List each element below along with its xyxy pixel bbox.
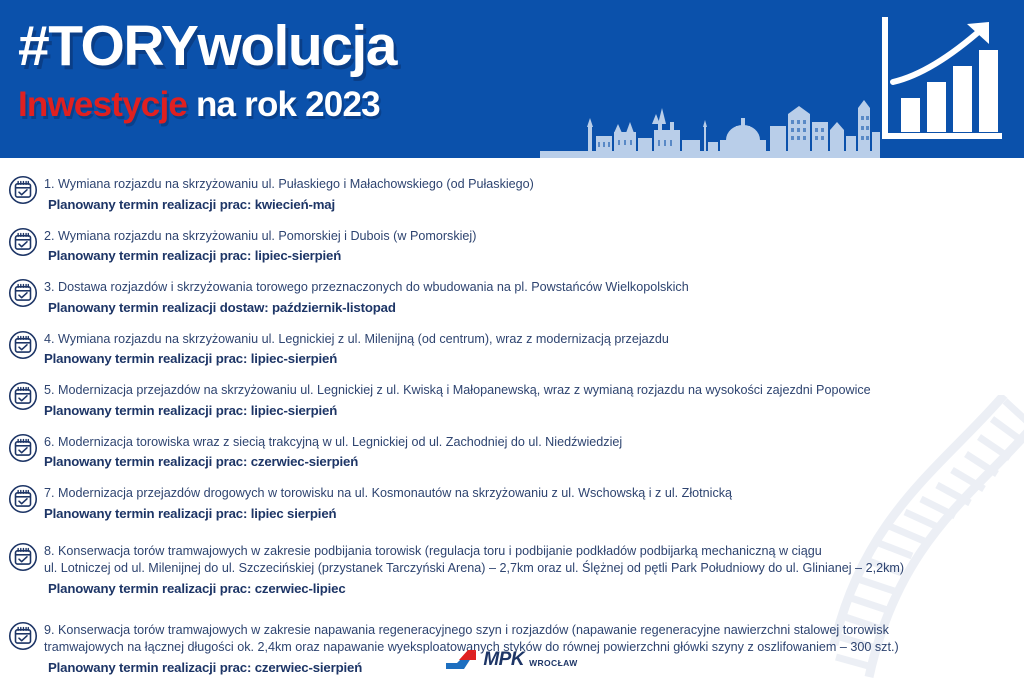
list-item-term: Planowany termin realizacji prac: lipiec… (44, 349, 1010, 368)
list-item: 1. Wymiana rozjazdu na skrzyżowaniu ul. … (8, 174, 1010, 214)
list-item-description: 5. Modernizacja przejazdów na skrzyżowan… (44, 382, 1010, 400)
list-item-term: Planowany termin realizacji dostaw: paźd… (44, 298, 1010, 317)
list-item-description: 1. Wymiana rozjazdu na skrzyżowaniu ul. … (44, 176, 1010, 194)
list-item: 2. Wymiana rozjazdu na skrzyżowaniu ul. … (8, 226, 1010, 266)
list-item-term: Planowany termin realizacji prac: czerwi… (44, 452, 1010, 471)
mpk-wroclaw-logo: MPK WROCŁAW (446, 649, 577, 671)
list-item: 4. Wymiana rozjazdu na skrzyżowaniu ul. … (8, 329, 1010, 369)
calendar-check-icon (8, 227, 38, 257)
calendar-check-icon (8, 542, 38, 572)
list-item-term: Planowany termin realizacji prac: lipiec… (44, 504, 1010, 523)
calendar-check-icon (8, 484, 38, 514)
poster-root: #TORYwolucja Inwestycje na rok 2023 (0, 0, 1024, 683)
list-item-description: 4. Wymiana rozjazdu na skrzyżowaniu ul. … (44, 331, 1010, 349)
calendar-check-icon (8, 278, 38, 308)
list-item-body: 7. Modernizacja przejazdów drogowych w t… (44, 483, 1010, 523)
mpk-arrow-mark-icon (446, 650, 478, 670)
calendar-check-icon (8, 175, 38, 205)
list-item-body: 8. Konserwacja torów tramwajowych w zakr… (44, 541, 1010, 598)
list-item-body: 1. Wymiana rozjazdu na skrzyżowaniu ul. … (44, 174, 1010, 214)
list-item-body: 5. Modernizacja przejazdów na skrzyżowan… (44, 380, 1010, 420)
calendar-check-icon (8, 433, 38, 463)
growth-chart-icon (871, 10, 1006, 150)
list-item-term: Planowany termin realizacji prac: czerwi… (44, 579, 1010, 598)
list-item-term: Planowany termin realizacji prac: lipiec… (44, 246, 1010, 265)
list-item: 8. Konserwacja torów tramwajowych w zakr… (8, 541, 1010, 598)
list-item-description: 8. Konserwacja torów tramwajowych w zakr… (44, 543, 1010, 578)
mpk-logo-city: WROCŁAW (529, 658, 578, 671)
page-title: #TORYwolucja (18, 14, 718, 78)
list-item-body: 4. Wymiana rozjazdu na skrzyżowaniu ul. … (44, 329, 1010, 369)
list-item-term: Planowany termin realizacji prac: kwieci… (44, 195, 1010, 214)
list-item-term: Planowany termin realizacji prac: lipiec… (44, 401, 1010, 420)
list-item-body: 6. Modernizacja torowiska wraz z siecią … (44, 432, 1010, 472)
footer: MPK WROCŁAW (0, 645, 1024, 675)
page-subtitle-accent: Inwestycje (18, 85, 187, 124)
list-item: 7. Modernizacja przejazdów drogowych w t… (8, 483, 1010, 523)
calendar-check-icon (8, 381, 38, 411)
list-item: 6. Modernizacja torowiska wraz z siecią … (8, 432, 1010, 472)
mpk-logo-text: MPK (483, 649, 524, 671)
list-item-description: 6. Modernizacja torowiska wraz z siecią … (44, 434, 1010, 452)
list-item: 5. Modernizacja przejazdów na skrzyżowan… (8, 380, 1010, 420)
investment-list: 1. Wymiana rozjazdu na skrzyżowaniu ul. … (0, 158, 1024, 677)
list-item-body: 3. Dostawa rozjazdów i skrzyżowania toro… (44, 277, 1010, 317)
list-item-description: 3. Dostawa rozjazdów i skrzyżowania toro… (44, 279, 1010, 297)
list-item: 3. Dostawa rozjazdów i skrzyżowania toro… (8, 277, 1010, 317)
header-titles: #TORYwolucja Inwestycje na rok 2023 (18, 14, 718, 126)
poster-header: #TORYwolucja Inwestycje na rok 2023 (0, 0, 1024, 158)
list-item-body: 2. Wymiana rozjazdu na skrzyżowaniu ul. … (44, 226, 1010, 266)
list-item-description: 7. Modernizacja przejazdów drogowych w t… (44, 485, 1010, 503)
calendar-check-icon (8, 330, 38, 360)
page-subtitle: Inwestycje na rok 2023 (18, 84, 718, 126)
page-subtitle-plain: na rok 2023 (187, 85, 380, 124)
list-item-description: 2. Wymiana rozjazdu na skrzyżowaniu ul. … (44, 228, 1010, 246)
